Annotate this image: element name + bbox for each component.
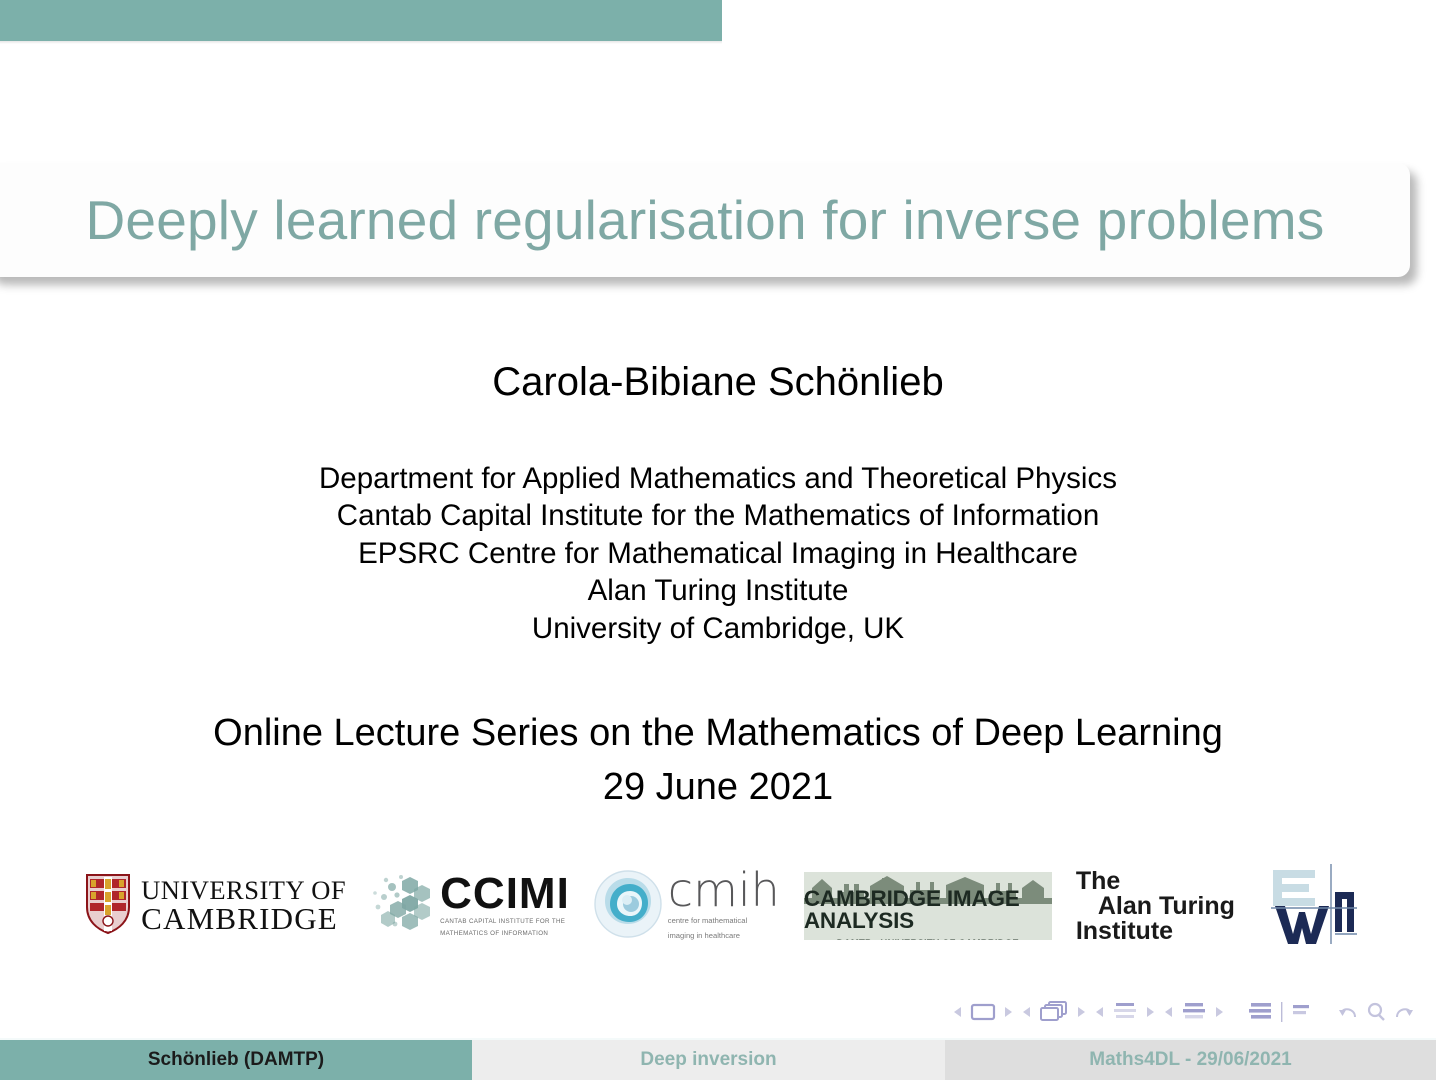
ccimi-tagline-line1: CANTAB CAPITAL INSTITUTE FOR THE <box>440 918 570 927</box>
back-icon[interactable] <box>1338 1001 1360 1028</box>
affiliation-line: Department for Applied Mathematics and T… <box>0 460 1436 497</box>
affiliation-line: Cantab Capital Institute for the Mathema… <box>0 497 1436 534</box>
presentation-slide: Deeply learned regularisation for invers… <box>0 0 1436 1080</box>
search-icon[interactable] <box>1365 1001 1387 1028</box>
cambridge-wordmark-line2: CAMBRIDGE <box>141 904 346 934</box>
document-navigation-group[interactable] <box>1248 1001 1315 1028</box>
ewm-monogram-icon <box>1261 858 1357 955</box>
footer-date: Maths4DL - 29/06/2021 <box>945 1040 1436 1080</box>
alan-turing-institute-logo: The Alan Turing Institute <box>1076 869 1235 944</box>
ati-line1: The <box>1076 869 1235 894</box>
affiliation-list: Department for Applied Mathematics and T… <box>0 460 1436 647</box>
cambridge-wordmark-line1: UNIVERSITY OF <box>141 878 346 904</box>
ati-line2: Alan Turing <box>1076 894 1235 919</box>
university-of-cambridge-logo: UNIVERSITY OF CAMBRIDGE <box>85 873 346 940</box>
event-info: Online Lecture Series on the Mathematics… <box>0 707 1436 815</box>
ati-wordmark: The Alan Turing Institute <box>1076 869 1235 944</box>
cambridge-crest-icon <box>85 873 131 940</box>
ccimi-hexagon-icon <box>370 871 432 942</box>
nav-divider-icon <box>1279 1001 1284 1028</box>
logo-strip: UNIVERSITY OF CAMBRIDGE <box>0 850 1436 962</box>
prev-subsection-arrow-icon[interactable] <box>1094 1005 1107 1024</box>
ewm-logo <box>1261 858 1357 955</box>
slide-navigation-group[interactable] <box>952 1002 1014 1027</box>
ccimi-logo: CCIMI CANTAB CAPITAL INSTITUTE FOR THE M… <box>370 871 570 942</box>
affiliation-line: University of Cambridge, UK <box>0 610 1436 647</box>
beamer-navigation-symbols[interactable] <box>952 1000 1414 1029</box>
ati-line3: Institute <box>1076 919 1235 944</box>
affiliation-line: EPSRC Centre for Mathematical Imaging in… <box>0 535 1436 572</box>
beginning-of-document-icon[interactable] <box>1248 1001 1274 1028</box>
frames-icon[interactable] <box>1039 1000 1069 1029</box>
cmih-name: cmih <box>668 871 780 911</box>
subsection-navigation-group[interactable] <box>1094 1001 1156 1028</box>
cia-name: CAMBRIDGE IMAGE ANALYSIS <box>804 888 1052 933</box>
prev-frame-arrow-icon[interactable] <box>1021 1005 1034 1024</box>
next-slide-arrow-icon[interactable] <box>1001 1005 1014 1024</box>
next-frame-arrow-icon[interactable] <box>1074 1005 1087 1024</box>
forward-icon[interactable] <box>1392 1001 1414 1028</box>
affiliation-line: Alan Turing Institute <box>0 572 1436 609</box>
page-title: Deeply learned regularisation for invers… <box>72 193 1325 248</box>
prev-slide-arrow-icon[interactable] <box>952 1005 965 1024</box>
title-box: Deeply learned regularisation for invers… <box>0 163 1410 277</box>
ccimi-name: CCIMI <box>440 873 570 915</box>
event-date: 29 June 2021 <box>0 761 1436 815</box>
slide-icon[interactable] <box>970 1002 996 1027</box>
header-accent-bar-shadow <box>0 41 722 44</box>
cmih-circle-icon <box>594 870 662 943</box>
section-navigation-group[interactable] <box>1163 1001 1225 1028</box>
slide-footer: Schönlieb (DAMTP) Deep inversion Maths4D… <box>0 1040 1436 1080</box>
footer-title: Deep inversion <box>472 1040 945 1080</box>
header-accent-bar <box>0 0 722 41</box>
next-section-arrow-icon[interactable] <box>1212 1005 1225 1024</box>
frame-navigation-group[interactable] <box>1021 1000 1087 1029</box>
cmih-tagline-line1: centre for mathematical <box>668 915 780 926</box>
end-of-document-icon[interactable] <box>1289 1001 1315 1028</box>
section-icon[interactable] <box>1181 1001 1207 1028</box>
subsection-icon[interactable] <box>1112 1001 1138 1028</box>
ccimi-tagline-line2: MATHEMATICS OF INFORMATION <box>440 930 570 939</box>
cambridge-image-analysis-logo: CAMBRIDGE IMAGE ANALYSIS DAMTP - UNIVERS… <box>804 872 1052 940</box>
event-series: Online Lecture Series on the Mathematics… <box>0 707 1436 761</box>
cmih-tagline-line2: imaging in healthcare <box>668 930 780 941</box>
cmih-logo: cmih centre for mathematical imaging in … <box>594 870 780 943</box>
prev-section-arrow-icon[interactable] <box>1163 1005 1176 1024</box>
cambridge-wordmark: UNIVERSITY OF CAMBRIDGE <box>141 878 346 934</box>
history-navigation-group[interactable] <box>1338 1001 1414 1028</box>
next-subsection-arrow-icon[interactable] <box>1143 1005 1156 1024</box>
author-name: Carola-Bibiane Schönlieb <box>0 358 1436 406</box>
cia-tagline: DAMTP - UNIVERSITY OF CAMBRIDGE <box>837 938 1019 941</box>
footer-author: Schönlieb (DAMTP) <box>0 1040 472 1080</box>
cmih-wordmark: cmih centre for mathematical imaging in … <box>668 871 780 941</box>
ccimi-wordmark: CCIMI CANTAB CAPITAL INSTITUTE FOR THE M… <box>440 873 570 939</box>
